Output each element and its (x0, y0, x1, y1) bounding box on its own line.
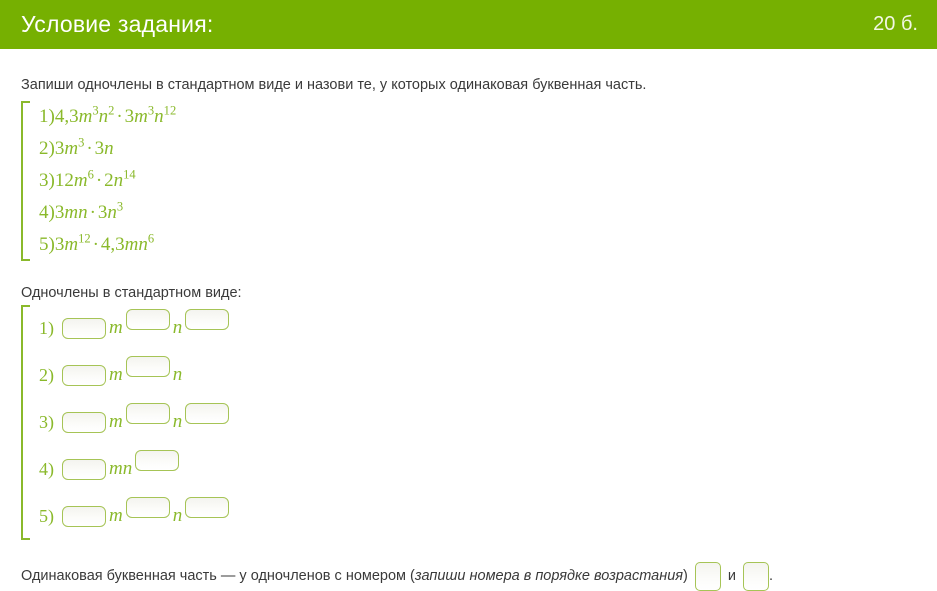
exponent: 6 (88, 168, 94, 182)
page-header: Условие задания: 20 б. (0, 0, 937, 49)
variable: n (99, 106, 109, 127)
coefficient: 3 (125, 106, 135, 127)
coefficient-input[interactable] (62, 365, 106, 386)
coefficient: 3 (55, 202, 65, 223)
expression-row: 3)12m6·2n14 (39, 165, 916, 197)
variable: n (114, 170, 124, 191)
exponent-input-2[interactable] (185, 309, 229, 330)
answer-index: 2) (39, 365, 54, 386)
exponent-input-1[interactable] (126, 403, 170, 424)
coefficient: 4,3 (101, 234, 125, 255)
variable: m (64, 234, 78, 255)
coefficient: 12 (55, 170, 74, 191)
variable: n (154, 106, 164, 127)
coefficient: 2 (104, 170, 114, 191)
multiply-operator: · (114, 106, 124, 127)
exponent-input-1[interactable] (126, 497, 170, 518)
expression-index: 1) (39, 106, 55, 127)
expression-row: 4)3mn·3n3 (39, 197, 916, 229)
variable-label: m (109, 505, 123, 527)
conclusion-hint: запиши номера в порядке возрастания (415, 568, 683, 584)
conclusion-conjunction: и (728, 568, 736, 584)
expression-rows: 1)4,3m3n2·3m3n122)3m3·3n3)12m6·2n144)3mn… (39, 101, 916, 261)
expression-list: 1)4,3m3n2·3m3n122)3m3·3n3)12m6·2n144)3mn… (21, 101, 916, 261)
variable: m (74, 170, 88, 191)
exponent: 12 (164, 104, 177, 118)
answer-row: 5)mn (39, 493, 916, 540)
conclusion-text-before: Одинаковая буквенная часть — у одночлено… (21, 568, 415, 584)
variable: n (104, 138, 114, 159)
exponent: 14 (123, 168, 136, 182)
answer-list: 1)mn2)mn3)mn4)mn5)mn (21, 305, 916, 540)
expression-index: 4) (39, 202, 55, 223)
exponent-input-2[interactable] (185, 497, 229, 518)
variable: m (79, 106, 93, 127)
variable-label: m (109, 364, 123, 386)
variable: n (107, 202, 117, 223)
page-title: Условие задания: (21, 11, 213, 38)
coefficient: 4,3 (55, 106, 79, 127)
answer-row: 2)mn (39, 352, 916, 399)
multiply-operator: · (88, 202, 98, 223)
coefficient: 3 (98, 202, 108, 223)
variable: n (78, 202, 88, 223)
conclusion-answer-input-1[interactable] (695, 562, 721, 591)
points-badge: 20 б. (873, 13, 918, 36)
coefficient: 3 (55, 234, 65, 255)
exponent: 6 (148, 232, 154, 246)
answer-index: 4) (39, 459, 54, 480)
coefficient: 3 (55, 138, 65, 159)
exponent-input-1[interactable] (126, 309, 170, 330)
variable-label: n (173, 317, 183, 339)
answer-rows: 1)mn2)mn3)mn4)mn5)mn (39, 305, 916, 540)
exponent: 3 (117, 200, 123, 214)
answer-index: 3) (39, 412, 54, 433)
variable-label: n (173, 364, 183, 386)
variable: n (138, 234, 148, 255)
expression-index: 2) (39, 138, 55, 159)
task-content: Запиши одночлены в стандартном виде и на… (0, 76, 937, 591)
exponent-input-1[interactable] (126, 356, 170, 377)
multiply-operator: · (94, 170, 104, 191)
bracket-left-icon (21, 305, 30, 540)
multiply-operator: · (91, 234, 101, 255)
conclusion-line: Одинаковая буквенная часть — у одночлено… (21, 562, 916, 591)
coefficient-input[interactable] (62, 459, 106, 480)
variable: m (64, 138, 78, 159)
coefficient-input[interactable] (62, 412, 106, 433)
coefficient-input[interactable] (62, 318, 106, 339)
conclusion-answer-input-2[interactable] (743, 562, 769, 591)
expression-index: 3) (39, 170, 55, 191)
variable-label: n (173, 411, 183, 433)
exponent: 12 (78, 232, 91, 246)
coefficient-input[interactable] (62, 506, 106, 527)
variable-label: mn (109, 458, 132, 480)
expression-row: 1)4,3m3n2·3m3n12 (39, 101, 916, 133)
bracket-left-icon (21, 101, 30, 261)
variable: m (64, 202, 78, 223)
exponent-input-2[interactable] (185, 403, 229, 424)
conclusion-close-paren: ) (683, 568, 688, 584)
conclusion-period: . (769, 568, 773, 584)
answer-row: 4)mn (39, 446, 916, 493)
variable-label: m (109, 411, 123, 433)
coefficient: 3 (95, 138, 105, 159)
answers-subprompt: Одночлены в стандартном виде: (21, 285, 916, 301)
answer-row: 1)mn (39, 305, 916, 352)
expression-row: 5)3m12·4,3mn6 (39, 229, 916, 261)
expression-row: 2)3m3·3n (39, 133, 916, 165)
exponent-input-1[interactable] (135, 450, 179, 471)
variable-label: n (173, 505, 183, 527)
answer-row: 3)mn (39, 399, 916, 446)
variable: m (134, 106, 148, 127)
answer-index: 1) (39, 318, 54, 339)
answer-index: 5) (39, 506, 54, 527)
variable: m (125, 234, 139, 255)
task-prompt: Запиши одночлены в стандартном виде и на… (21, 76, 916, 95)
variable-label: m (109, 317, 123, 339)
multiply-operator: · (84, 138, 94, 159)
expression-index: 5) (39, 234, 55, 255)
